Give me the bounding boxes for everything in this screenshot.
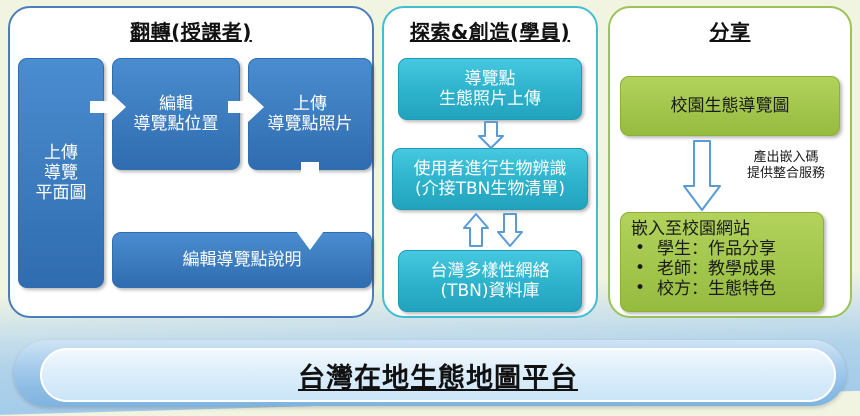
list-item: 老師：教學成果: [631, 259, 776, 279]
arrow-up-outline-1: [462, 213, 490, 247]
node-embed-campus-site[interactable]: 嵌入至校園網站 學生：作品分享 老師：教學成果 校方：生態特色: [620, 212, 824, 312]
platform-banner-label: 台灣在地生態地圖平台: [298, 356, 578, 395]
node-edit-point-pos[interactable]: 編輯導覽點位置: [112, 58, 240, 170]
panel-title-flip-teacher: 翻轉(授課者): [10, 16, 372, 45]
arrow-right-2: [228, 92, 264, 122]
list-item: 學生：作品分享: [631, 239, 776, 259]
arrow-down-outline-2: [496, 213, 524, 247]
node-tbn-database[interactable]: 台灣多樣性網絡(TBN)資料庫: [398, 250, 582, 312]
node-species-id-label: 使用者進行生物辨識(介接TBN生物清單): [410, 159, 571, 199]
node-edit-point-desc[interactable]: 編輯導覽點說明: [112, 232, 372, 288]
node-embed-campus-site-bullets: 學生：作品分享 老師：教學成果 校方：生態特色: [631, 239, 776, 299]
node-upload-point-pic-label: 上傳導覽點照片: [264, 94, 357, 134]
arrow-down-outline-3: [682, 140, 722, 212]
panel-title-explore-create-student: 探索&創造(學員): [384, 16, 596, 45]
node-upload-map-label: 上傳導覽平面圖: [32, 143, 91, 203]
panel-title-share: 分享: [610, 16, 850, 45]
node-edit-point-pos-label: 編輯導覽點位置: [130, 94, 223, 134]
arrow-note-line-2: 提供整合服務: [728, 166, 844, 182]
arrow-note-share: 產出嵌入碼 提供整合服務: [728, 150, 844, 183]
node-eco-photo-upload-label: 導覽點生態照片上傳: [435, 69, 545, 109]
node-embed-campus-site-head: 嵌入至校園網站: [631, 219, 750, 239]
node-species-id[interactable]: 使用者進行生物辨識(介接TBN生物清單): [392, 148, 588, 210]
node-edit-point-desc-label: 編輯導覽點說明: [179, 250, 306, 270]
arrow-right-1: [90, 92, 126, 122]
arrow-down-outline-1: [477, 121, 505, 149]
platform-banner-inner: 台灣在地生態地圖平台: [40, 348, 836, 402]
arrow-note-line-1: 產出嵌入碼: [728, 150, 844, 166]
node-tbn-database-label: 台灣多樣性網絡(TBN)資料庫: [427, 261, 554, 301]
diagram-canvas: 翻轉(授課者) 上傳導覽平面圖 編輯導覽點位置 上傳導覽點照片 編輯導覽點說明 …: [0, 0, 860, 416]
node-eco-photo-upload[interactable]: 導覽點生態照片上傳: [398, 58, 582, 120]
arrow-down-1: [288, 162, 332, 250]
list-item: 校方：生態特色: [631, 279, 776, 299]
node-campus-eco-map[interactable]: 校園生態導覽圖: [620, 76, 840, 136]
node-campus-eco-map-label: 校園生態導覽圖: [667, 96, 794, 116]
node-upload-point-pic[interactable]: 上傳導覽點照片: [248, 58, 372, 170]
